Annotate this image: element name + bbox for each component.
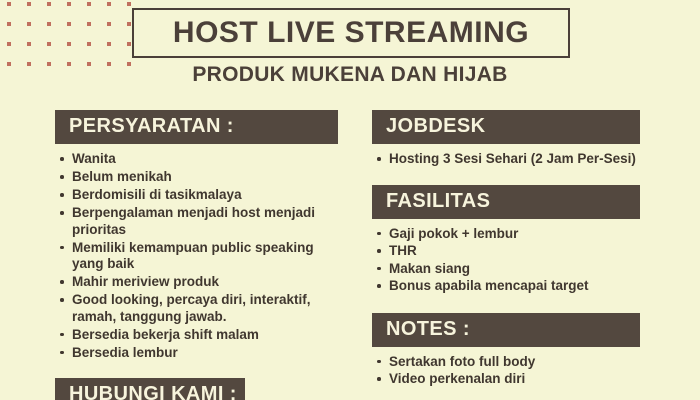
page-subtitle: PRODUK MUKENA DAN HIJAB bbox=[0, 63, 700, 87]
list-item: THR bbox=[372, 243, 640, 260]
poster: HOST LIVE STREAMING PRODUK MUKENA DAN HI… bbox=[0, 0, 700, 400]
page-title: HOST LIVE STREAMING bbox=[173, 16, 529, 50]
dot bbox=[127, 42, 131, 46]
section-heading-fasilitas: FASILITAS bbox=[372, 185, 640, 219]
dot bbox=[87, 2, 91, 6]
list-item: Bonus apabila mencapai target bbox=[372, 278, 640, 295]
dot bbox=[7, 42, 11, 46]
dot bbox=[107, 2, 111, 6]
list-item: Sertakan foto full body bbox=[372, 354, 640, 371]
list-item: Video perkenalan diri bbox=[372, 371, 640, 388]
left-column: PERSYARATAN : Wanita Belum menikah Berdo… bbox=[55, 110, 338, 400]
list-item: Belum menikah bbox=[55, 169, 338, 186]
dot bbox=[67, 2, 71, 6]
dot bbox=[107, 42, 111, 46]
section-heading-persyaratan: PERSYARATAN : bbox=[55, 110, 338, 144]
dot bbox=[127, 22, 131, 26]
list-item: Good looking, percaya diri, interaktif, … bbox=[55, 292, 338, 325]
list-item: Berpengalaman menjadi host menjadi prior… bbox=[55, 205, 338, 238]
dot bbox=[67, 22, 71, 26]
persyaratan-list: Wanita Belum menikah Berdomisili di tasi… bbox=[55, 144, 338, 361]
list-item: Bersedia bekerja shift malam bbox=[55, 327, 338, 344]
dot bbox=[27, 2, 31, 6]
dot bbox=[7, 2, 11, 6]
section-heading-jobdesk: JOBDESK bbox=[372, 110, 640, 144]
section-heading-notes: NOTES : bbox=[372, 313, 640, 347]
dot bbox=[27, 42, 31, 46]
dot bbox=[67, 42, 71, 46]
dot bbox=[87, 22, 91, 26]
list-item: Bersedia lembur bbox=[55, 345, 338, 362]
dot bbox=[47, 22, 51, 26]
dot bbox=[7, 22, 11, 26]
dot bbox=[27, 22, 31, 26]
section-heading-hubungi-kami: HUBUNGI KAMI : bbox=[55, 378, 245, 400]
list-item: Makan siang bbox=[372, 261, 640, 278]
list-item: Gaji pokok + lembur bbox=[372, 226, 640, 243]
dot bbox=[127, 2, 131, 6]
list-item: Mahir meriview produk bbox=[55, 274, 338, 291]
dot bbox=[47, 2, 51, 6]
list-item: Berdomisili di tasikmalaya bbox=[55, 187, 338, 204]
dot bbox=[47, 42, 51, 46]
fasilitas-list: Gaji pokok + lembur THR Makan siang Bonu… bbox=[372, 219, 640, 295]
jobdesk-list: Hosting 3 Sesi Sehari (2 Jam Per-Sesi) bbox=[372, 144, 640, 168]
right-column: JOBDESK Hosting 3 Sesi Sehari (2 Jam Per… bbox=[372, 110, 640, 389]
poster-title-box: HOST LIVE STREAMING bbox=[132, 8, 570, 58]
list-item: Wanita bbox=[55, 151, 338, 168]
list-item: Memiliki kemampuan public speaking yang … bbox=[55, 240, 338, 273]
dot bbox=[107, 22, 111, 26]
list-item: Hosting 3 Sesi Sehari (2 Jam Per-Sesi) bbox=[372, 151, 640, 168]
notes-list: Sertakan foto full body Video perkenalan… bbox=[372, 347, 640, 388]
dot bbox=[87, 42, 91, 46]
